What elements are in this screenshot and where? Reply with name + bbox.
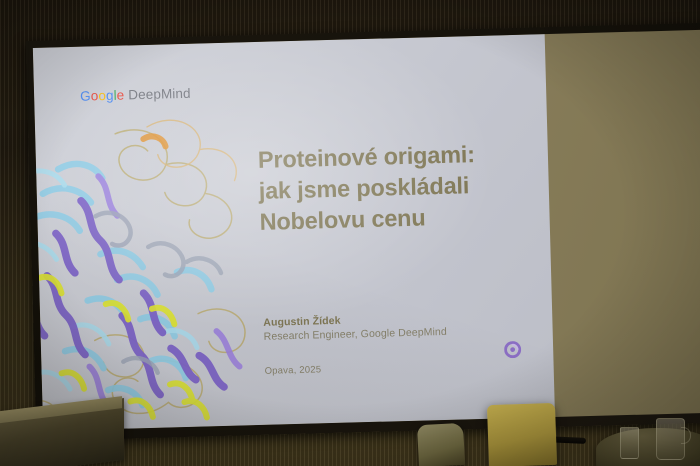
title-line-3: Nobelovu cenu (259, 200, 530, 238)
logo-letter: e (116, 88, 124, 103)
google-deepmind-logo: GoogleDeepMind (80, 86, 191, 104)
venue-and-year: Opava, 2025 (265, 364, 322, 377)
water-pitcher (656, 418, 685, 460)
logo-letter: G (80, 88, 91, 103)
screen-frame: GoogleDeepMind (26, 23, 700, 442)
slide-title: Proteinové origami: jak jsme poskládali … (258, 138, 530, 238)
photo-scene: GoogleDeepMind (0, 0, 700, 466)
alphafold-spiral-icon (504, 341, 521, 358)
chair-olive-back (487, 403, 557, 466)
screen-surface: GoogleDeepMind (33, 30, 700, 431)
deepmind-wordmark: DeepMind (128, 86, 191, 103)
water-glass (620, 427, 639, 459)
protein-ribbon-artwork (33, 99, 296, 431)
slide-byline: Augustin Žídek Research Engineer, Google… (263, 308, 544, 344)
projection-screen-assembly: GoogleDeepMind (0, 0, 700, 448)
projected-slide: GoogleDeepMind (33, 34, 555, 431)
chair-tan-arm (417, 423, 465, 466)
